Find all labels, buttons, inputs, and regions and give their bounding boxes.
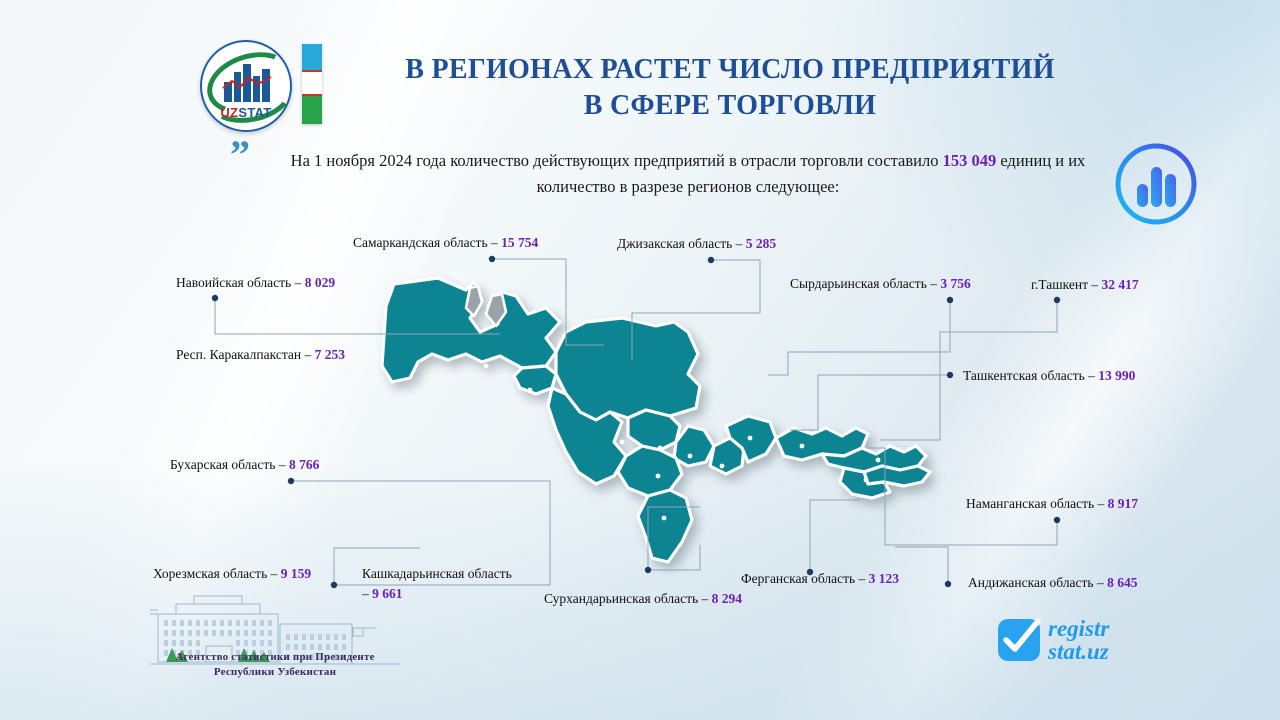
label-bukhara-dash: – [275,457,289,472]
map-region-navoi[interactable] [556,318,700,420]
label-navoi-value: 8 029 [305,275,335,290]
label-navoi-dash: – [291,275,305,290]
registrstat-logo[interactable]: registr stat.uz [998,612,1198,668]
label-jizzakh-name: Джизакская область [617,236,732,251]
label-fergana-value: 3 123 [869,571,899,586]
page-title-line2: В СФЕРЕ ТОРГОВЛИ [330,88,1130,124]
agency-caption-line2: Республики Узбекистан [148,665,402,680]
agency-caption-line1: Агентство статистики при Президенте [148,650,402,665]
logo-wordmark-uz: UZ [220,105,238,120]
label-khorezm-value: 9 159 [281,566,311,581]
subtitle-part1: На 1 ноября 2024 года количество действу… [291,151,943,170]
checkmark-icon [998,619,1040,661]
label-karakalpakstan-value: 7 253 [315,347,345,362]
label-namangan-dash: – [1094,496,1108,511]
page-title: В РЕГИОНАХ РАСТЕТ ЧИСЛО ПРЕДПРИЯТИЙ В СФ… [330,52,1130,124]
label-tashkent-city[interactable]: г.Ташкент – 32 417 [1031,275,1139,295]
label-karakalpakstan-name: Респ. Каракалпакстан [176,347,301,362]
label-kashkadarya-name: Кашкадарьинская область [362,566,512,581]
label-samarkand-name: Самаркандская область [353,235,488,250]
bar-chart-badge-icon [1112,140,1200,228]
label-surkhandarya-dash: – [698,591,712,606]
label-surkhandarya-name: Сурхандарьинская область [544,591,698,606]
label-samarkand[interactable]: Самаркандская область – 15 754 [353,233,538,253]
label-fergana[interactable]: Ферганская область – 3 123 [741,569,899,589]
label-andijan-dash: – [1094,575,1108,590]
page-title-line1: В РЕГИОНАХ РАСТЕТ ЧИСЛО ПРЕДПРИЯТИЙ [330,52,1130,88]
label-bukhara-value: 8 766 [289,457,319,472]
label-namangan-name: Наманганская область [966,496,1094,511]
label-tashkent-region-name: Ташкентская область [963,368,1085,383]
label-jizzakh[interactable]: Джизакская область – 5 285 [617,234,776,254]
label-tashkent-city-value: 32 417 [1102,277,1139,292]
label-namangan[interactable]: Наманганская область – 8 917 [966,494,1138,514]
label-tashkent-region-value: 13 990 [1098,368,1135,383]
uzbekistan-map [370,270,970,600]
label-navoi[interactable]: Навоийская область – 8 029 [176,273,335,293]
logo-wordmark-stat: STAT [238,105,271,120]
quote-mark-icon: ” [230,143,250,167]
label-khorezm-name: Хорезмская область [153,566,267,581]
logo-trendline-icon [222,76,272,92]
map-region-surkhandarya[interactable] [638,490,692,562]
label-fergana-name: Ферганская область [741,571,855,586]
label-khorezm-dash: – [267,566,281,581]
map-region-samarkand[interactable] [628,410,680,450]
registrstat-wordmark: registr stat.uz [1048,617,1109,664]
registrstat-line1: registr [1048,617,1109,640]
label-karakalpakstan[interactable]: Респ. Каракалпакстан – 7 253 [176,345,345,365]
label-syrdarya-dash: – [927,276,941,291]
label-andijan-name: Андижанская область [968,575,1094,590]
label-surkhandarya[interactable]: Сурхандарьинская область – 8 294 [544,589,742,609]
label-samarkand-value: 15 754 [501,235,538,250]
label-tashkent-region[interactable]: Ташкентская область – 13 990 [963,366,1135,386]
label-jizzakh-dash: – [732,236,746,251]
label-syrdarya[interactable]: Сырдарьинская область – 3 756 [790,274,971,294]
label-tashkent-city-dash: – [1088,277,1102,292]
subtitle-text: На 1 ноября 2024 года количество действу… [268,148,1108,199]
label-bukhara-name: Бухарская область [170,457,275,472]
label-navoi-name: Навоийская область [176,275,291,290]
logo-wordmark: UZSTAT [200,105,292,120]
uzbekistan-flag-bar [302,44,322,124]
label-syrdarya-name: Сырдарьинская область [790,276,927,291]
label-samarkand-dash: – [488,235,502,250]
map-aral-sea [466,286,482,316]
uzstat-logo: UZSTAT [200,40,292,132]
label-khorezm[interactable]: Хорезмская область – 9 159 [153,564,311,584]
map-region-kashkadarya[interactable] [618,446,682,496]
infographic-canvas: UZSTAT В РЕГИОНАХ РАСТЕТ ЧИСЛО ПРЕДПРИЯТ… [0,0,1280,720]
label-surkhandarya-value: 8 294 [712,591,742,606]
label-bukhara[interactable]: Бухарская область – 8 766 [170,455,319,475]
label-namangan-value: 8 917 [1108,496,1138,511]
registrstat-line2: stat.uz [1048,640,1109,663]
label-karakalpakstan-dash: – [301,347,315,362]
label-andijan[interactable]: Андижанская область – 8 645 [968,573,1137,593]
label-tashkent-region-dash: – [1085,368,1099,383]
agency-caption: Агентство статистики при Президенте Респ… [148,650,402,680]
label-jizzakh-value: 5 285 [746,236,776,251]
map-region-khorezm[interactable] [514,366,556,394]
label-syrdarya-value: 3 756 [940,276,970,291]
label-andijan-value: 8 645 [1107,575,1137,590]
label-fergana-dash: – [855,571,869,586]
label-tashkent-city-name: г.Ташкент [1031,277,1088,292]
subtitle-total-value: 153 049 [943,151,997,170]
